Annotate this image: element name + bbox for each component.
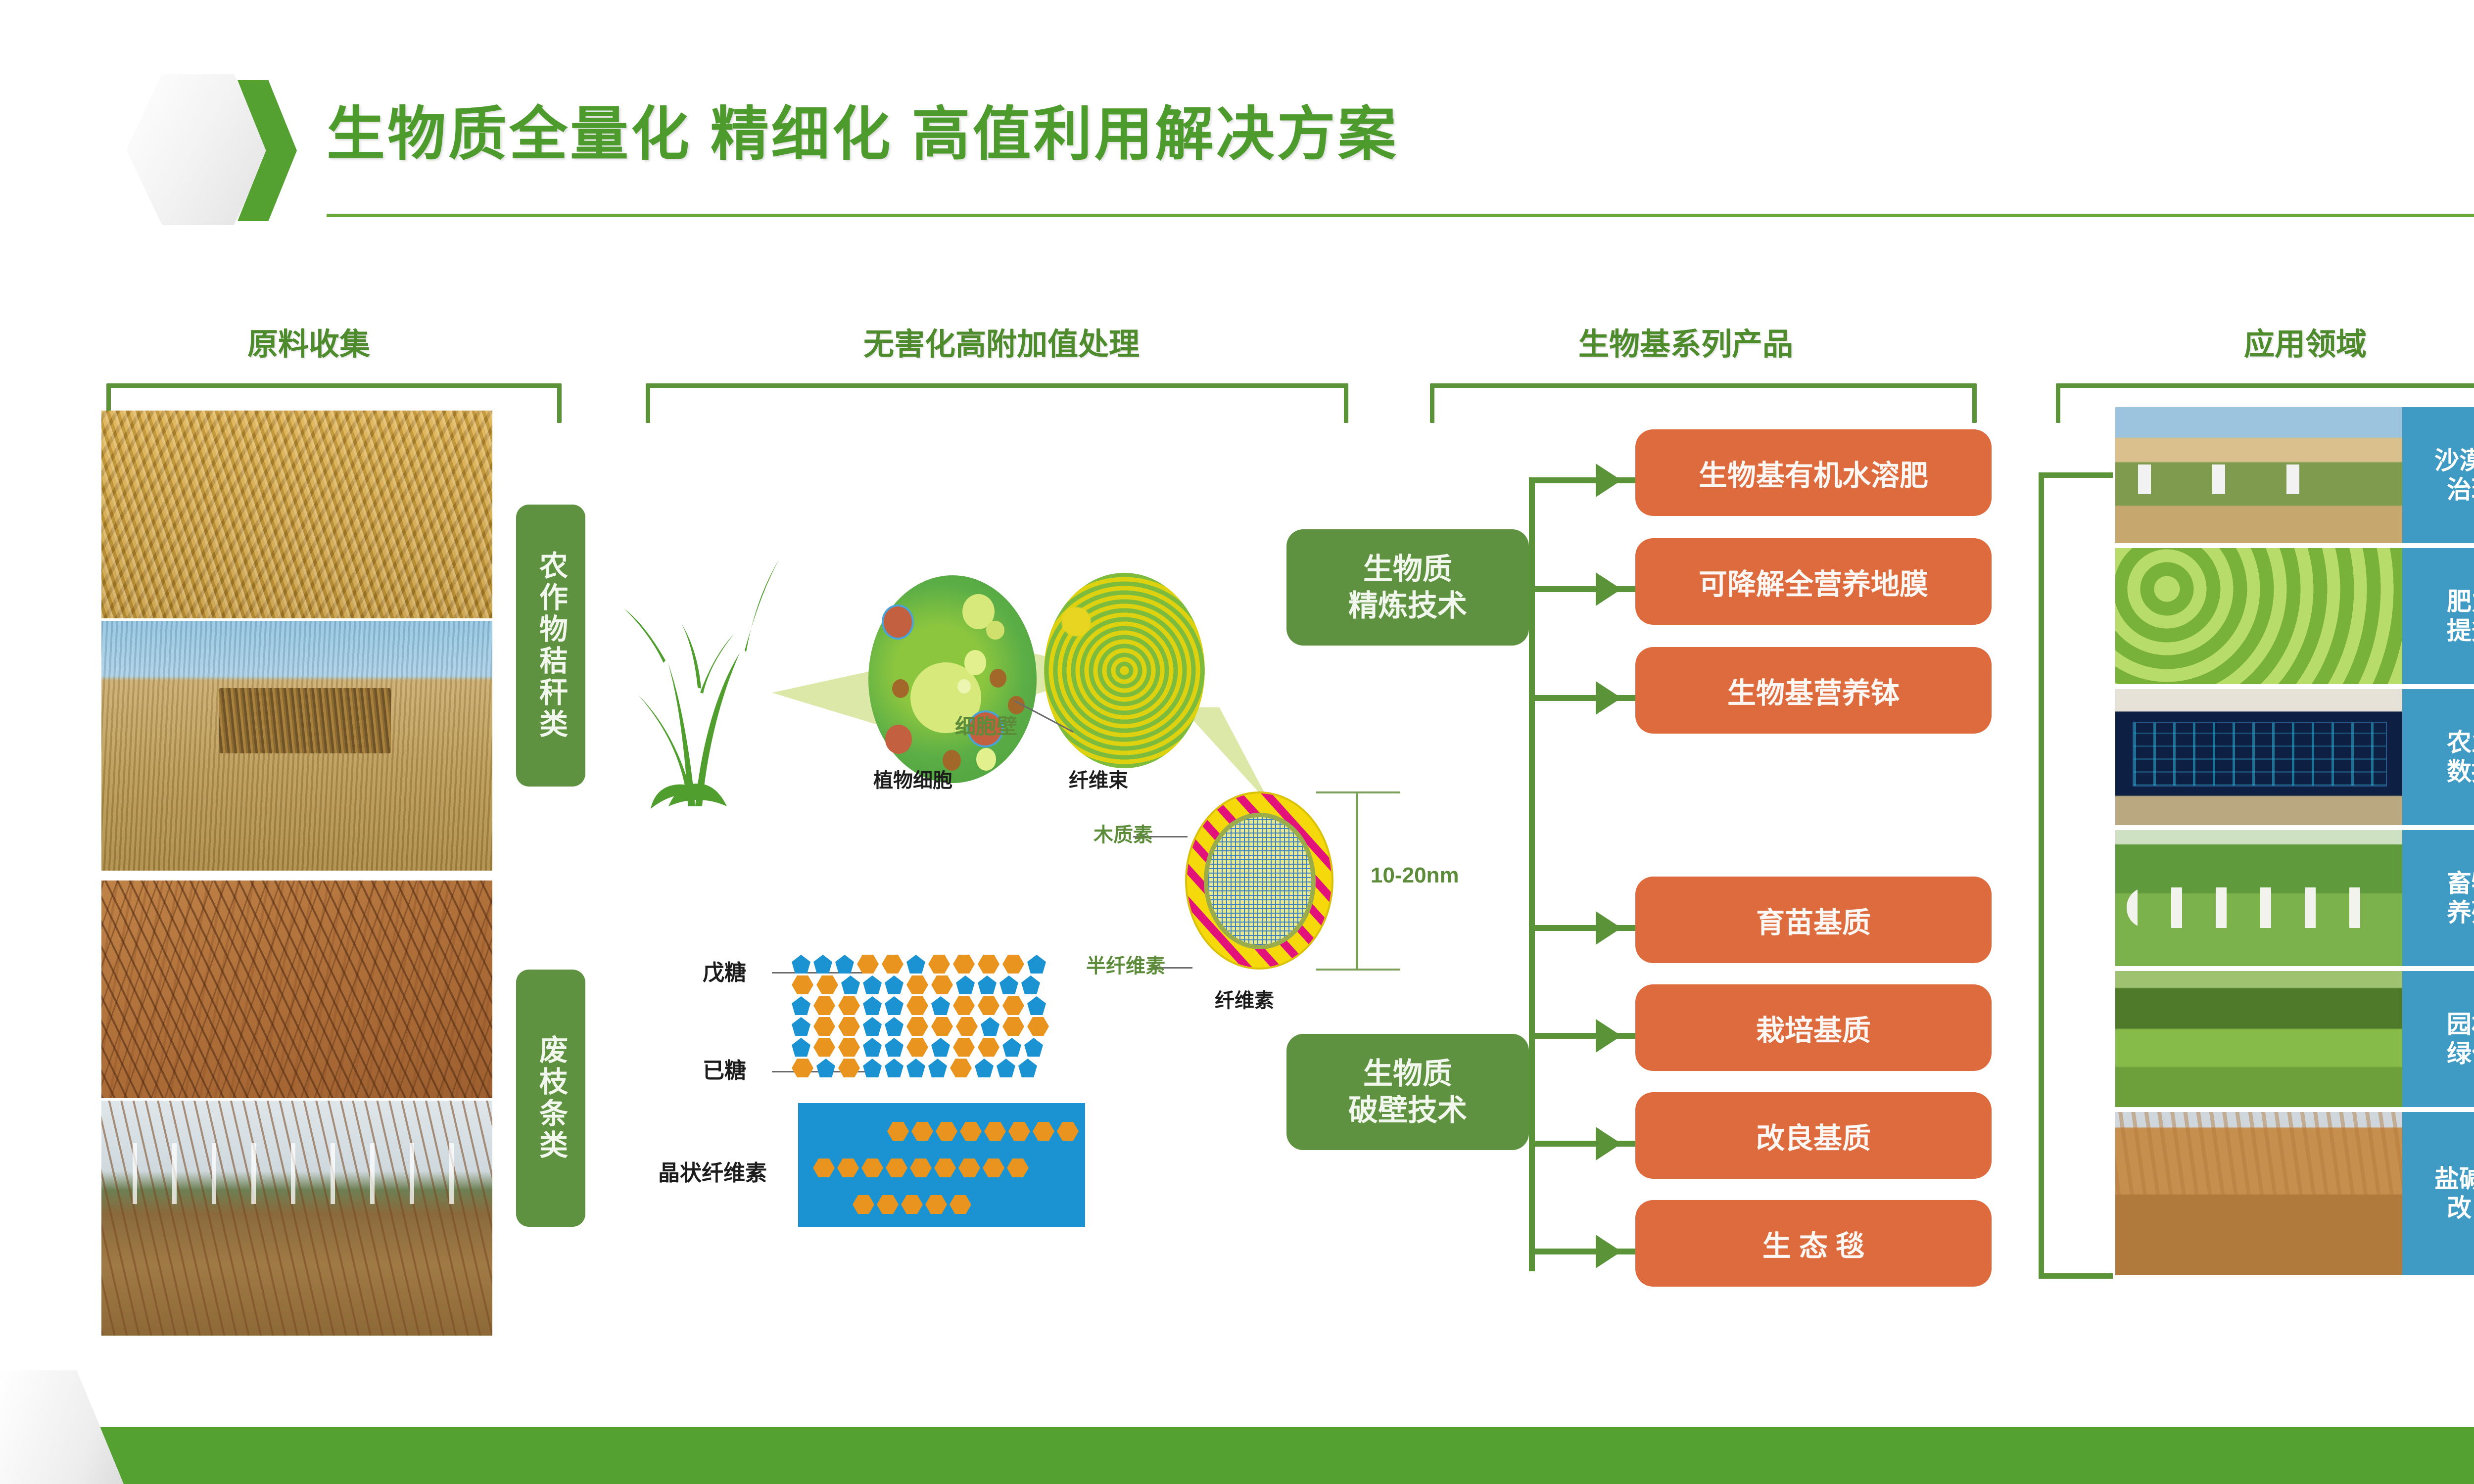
app-label-line1: 园林 (2447, 1011, 2474, 1038)
stage-label-bio-products: 生物基系列产品 (1578, 319, 1793, 364)
hexose-glyph (838, 1017, 860, 1036)
hexose-glyph (857, 955, 879, 974)
tech-wall-line1: 生物质 (1363, 1057, 1452, 1090)
hexose-glyph (1002, 1017, 1024, 1036)
connector-branch-1 (1529, 477, 1653, 483)
app-label-line2: 绿化 (2447, 1040, 2474, 1067)
glucose-glyph (886, 1159, 907, 1177)
label-crystalline-cellulose: 晶状纤维素 (658, 1155, 767, 1187)
hexose-glyph (906, 1017, 928, 1036)
pentose-glyph (863, 996, 882, 1015)
application-tag-garden[interactable]: 园林绿化 (2402, 971, 2474, 1107)
pentose-glyph (792, 1038, 810, 1057)
app-label-line1: 农业 (2447, 729, 2474, 756)
glucose-glyph (813, 1159, 835, 1177)
arrow-head-4 (1596, 911, 1621, 945)
pentose-glyph (813, 955, 832, 974)
product-box-nutrition-pot[interactable]: 生物基营养钵 (1635, 647, 1992, 734)
dimension-line (1356, 791, 1358, 970)
pentose-glyph (816, 1059, 835, 1077)
hexose-glyph (931, 975, 953, 994)
hexose-glyph (956, 1017, 978, 1036)
stage-bracket-bio-products (1430, 383, 1977, 423)
hexose-glyph (906, 975, 928, 994)
glucose-glyph (1057, 1122, 1079, 1141)
application-row-desert[interactable]: 沙漠化治理 (2115, 407, 2474, 543)
label-hexose: 已糖 (703, 1053, 746, 1084)
product-box-biodegradable-mulch-film[interactable]: 可降解全营养地膜 (1635, 538, 1992, 625)
fiber-bundle-illustration (1044, 573, 1205, 768)
tech-box-wall-breaking[interactable]: 生物质破壁技术 (1286, 1034, 1529, 1150)
pentose-glyph (841, 975, 860, 994)
sugar-chain-row (792, 975, 1040, 994)
label-cell-wall: 细胞壁 (955, 710, 1017, 740)
application-row-fertility[interactable]: 肥力提升 (2115, 548, 2474, 684)
tag-crop-straw: 农作物秸秆类 (516, 505, 585, 787)
glucose-glyph (911, 1122, 933, 1141)
hexose-glyph (816, 975, 838, 994)
glucose-glyph (1007, 1159, 1029, 1177)
label-cellulose: 纤维素 (1215, 984, 1274, 1013)
connector-branch-3 (1529, 695, 1653, 701)
crystalline-chain-row (853, 1195, 971, 1214)
hexose-glyph (792, 1059, 813, 1077)
application-row-data[interactable]: 农业数据 (2115, 689, 2474, 825)
application-bracket (2039, 472, 2113, 1279)
glucose-glyph (958, 1159, 980, 1177)
app-label-line1: 肥力 (2447, 588, 2474, 615)
hexose-glyph (953, 1038, 975, 1057)
arrow-head-3 (1596, 681, 1621, 715)
pentose-glyph (792, 996, 810, 1015)
tech-refining-line2: 精炼技术 (1348, 589, 1467, 622)
application-row-garden[interactable]: 园林绿化 (2115, 971, 2474, 1107)
photo-landscape-greening (2115, 971, 2402, 1107)
app-label-line2: 养殖 (2447, 899, 2474, 927)
hexose-glyph (906, 996, 928, 1015)
photo-cabbage-field (2115, 548, 2402, 684)
page-title: 生物质全量化 精细化 高值利用解决方案 (327, 87, 1399, 171)
pentose-glyph (1024, 1038, 1043, 1057)
glucose-glyph (853, 1195, 874, 1214)
sugar-chain-illustration (792, 955, 1098, 1093)
hexose-glyph (813, 996, 835, 1015)
pentose-glyph (1021, 975, 1040, 994)
crystalline-chain-row (813, 1159, 1029, 1177)
pentose-glyph (906, 955, 925, 974)
hexose-glyph (978, 955, 999, 974)
cellulose-core-illustration (1208, 817, 1311, 945)
pentose-glyph (792, 1017, 810, 1036)
application-row-saline[interactable]: 盐碱地改良 (2115, 1112, 2474, 1275)
connector-branch-5 (1529, 1033, 1653, 1039)
hexose-glyph (813, 1038, 835, 1057)
pentose-glyph (1018, 1059, 1037, 1077)
hexose-glyph (882, 955, 904, 974)
pentose-glyph (792, 955, 810, 974)
application-tag-desert[interactable]: 沙漠化治理 (2402, 407, 2474, 543)
connector-branch-2 (1529, 586, 1653, 592)
connector-branch-4 (1529, 925, 1653, 931)
photo-saline-land (2115, 1112, 2402, 1275)
pentose-glyph (931, 996, 950, 1015)
stage-bracket-processing (646, 383, 1348, 423)
glucose-glyph (887, 1122, 909, 1141)
glucose-glyph (877, 1195, 899, 1214)
pentose-glyph (863, 975, 882, 994)
glucose-glyph (1033, 1122, 1054, 1141)
photo-corn-stalk (101, 411, 492, 618)
sugar-chain-row (792, 996, 1046, 1015)
sugar-chain-row (792, 1059, 1037, 1077)
product-box-ecological-blanket[interactable]: 生 态 毯 (1635, 1200, 1992, 1287)
stage-label-application: 应用领域 (2244, 319, 2367, 364)
application-tag-livestock[interactable]: 畜牧养殖 (2402, 830, 2474, 966)
hexose-glyph (792, 975, 813, 994)
glucose-glyph (901, 1195, 923, 1214)
hexose-glyph (931, 1017, 953, 1036)
page-header: 生物质全量化 精细化 高值利用解决方案 (0, 0, 2474, 232)
hexose-glyph (906, 1038, 928, 1057)
connector-branch-7 (1529, 1249, 1653, 1254)
app-label-line2: 改良 (2447, 1194, 2474, 1222)
sugar-chain-row (792, 955, 1046, 974)
pentose-glyph (975, 1059, 994, 1077)
photo-agriculture-data-center (2115, 689, 2402, 825)
hexose-glyph (978, 1038, 999, 1057)
hexose-glyph (1002, 955, 1024, 974)
glucose-glyph (960, 1122, 982, 1141)
label-pentose: 戊糖 (703, 955, 746, 986)
application-tag-data[interactable]: 农业数据 (2402, 689, 2474, 825)
footer-bar (0, 1427, 2474, 1484)
pentose-glyph (1002, 1038, 1021, 1057)
label-plant-cell: 植物细胞 (873, 764, 952, 793)
tech-wall-line2: 破壁技术 (1348, 1094, 1467, 1127)
pentose-glyph (885, 1017, 904, 1036)
arrow-head-2 (1596, 572, 1621, 606)
glucose-glyph (984, 1122, 1006, 1141)
pentose-glyph (835, 955, 854, 974)
glucose-glyph (950, 1195, 971, 1214)
glucose-glyph (861, 1159, 883, 1177)
application-row-livestock[interactable]: 畜牧养殖 (2115, 830, 2474, 966)
app-label-line1: 盐碱地 (2434, 1165, 2474, 1193)
hexose-glyph (953, 996, 975, 1015)
glucose-glyph (1008, 1122, 1030, 1141)
title-divider (327, 214, 2474, 217)
stage-label-processing: 无害化高附加值处理 (863, 319, 1140, 364)
pentose-glyph (885, 975, 904, 994)
hexose-glyph (1002, 996, 1024, 1015)
glucose-glyph (925, 1195, 947, 1214)
hexose-glyph (838, 996, 860, 1015)
product-box-improvement-substrate[interactable]: 改良基质 (1635, 1092, 1992, 1179)
sugar-chain-row (792, 1017, 1049, 1036)
pentose-glyph (885, 996, 904, 1015)
app-label-line2: 治理 (2447, 476, 2474, 504)
glucose-glyph (983, 1159, 1004, 1177)
pentose-glyph (1027, 955, 1046, 974)
sugar-chain-row (792, 1038, 1043, 1057)
connector-branch-6 (1529, 1141, 1653, 1147)
glucose-glyph (936, 1122, 957, 1141)
label-fiber-bundle: 纤维束 (1069, 764, 1128, 793)
hexose-glyph (928, 955, 950, 974)
photo-orchard-pruning (101, 1101, 492, 1336)
application-tag-saline[interactable]: 盐碱地改良 (2402, 1112, 2474, 1275)
hexose-glyph (1027, 1017, 1049, 1036)
glucose-glyph (934, 1159, 956, 1177)
arrow-head-7 (1596, 1235, 1621, 1268)
plant-cell-illustration (868, 575, 1037, 783)
photo-dry-branches (101, 881, 492, 1098)
tag-waste-branch: 废枝条类 (516, 970, 585, 1227)
arrow-head-6 (1596, 1127, 1621, 1160)
photo-sheep-grazing (2115, 830, 2402, 966)
hexose-glyph (813, 1017, 835, 1036)
pentose-glyph (885, 1059, 904, 1077)
product-box-seedling-substrate[interactable]: 育苗基质 (1635, 877, 1992, 963)
app-label-line2: 提升 (2447, 617, 2474, 645)
pentose-glyph (997, 1059, 1015, 1077)
product-box-cultivation-substrate[interactable]: 栽培基质 (1635, 984, 1992, 1071)
hexose-glyph (950, 1059, 972, 1077)
tech-refining-line1: 生物质 (1363, 553, 1452, 586)
connector-trunk-wall-breaking (1529, 925, 1535, 1271)
dimension-top-tick (1316, 791, 1400, 793)
pentose-glyph (956, 975, 975, 994)
arrow-head-5 (1596, 1019, 1621, 1053)
pentose-glyph (906, 1059, 925, 1077)
pentose-glyph (863, 1038, 882, 1057)
pentose-glyph (863, 1017, 882, 1036)
pentose-glyph (981, 1017, 999, 1036)
hexose-glyph (838, 1038, 860, 1057)
hexose-glyph (978, 996, 999, 1015)
tech-box-refining[interactable]: 生物质精炼技术 (1286, 529, 1529, 646)
pentose-glyph (978, 975, 997, 994)
arrow-head-1 (1596, 464, 1621, 497)
pentose-glyph (999, 975, 1018, 994)
app-label-line1: 沙漠化 (2434, 447, 2474, 474)
plant-illustration-icon (621, 539, 784, 816)
crystalline-chain-row (887, 1122, 1079, 1141)
pentose-glyph (1027, 996, 1046, 1015)
app-label-line2: 数据 (2447, 758, 2474, 786)
pentose-glyph (885, 1038, 904, 1057)
glucose-glyph (837, 1159, 859, 1177)
label-dimension: 10-20nm (1371, 863, 1459, 888)
stage-label-raw-collection: 原料收集 (247, 319, 370, 364)
application-tag-fertility[interactable]: 肥力提升 (2402, 548, 2474, 684)
label-lignin: 木质素 (1094, 819, 1153, 847)
photo-straw-bale (101, 621, 492, 871)
product-box-water-soluble-fertilizer[interactable]: 生物基有机水溶肥 (1635, 429, 1992, 516)
glucose-glyph (910, 1159, 932, 1177)
pentose-glyph (928, 1059, 947, 1077)
pentose-glyph (931, 1038, 950, 1057)
crystalline-cellulose-panel (798, 1103, 1085, 1227)
app-label-line1: 畜牧 (2447, 870, 2474, 897)
dimension-bottom-tick (1316, 969, 1400, 971)
photo-desert-control (2115, 407, 2402, 543)
hexose-glyph (838, 1059, 860, 1077)
pentose-glyph (863, 1059, 882, 1077)
hexose-glyph (953, 955, 975, 974)
